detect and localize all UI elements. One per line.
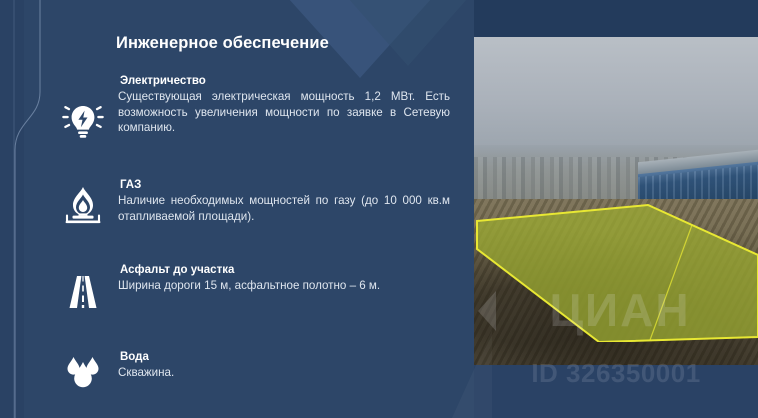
feature-asphalt-text: Асфальт до участка Ширина дороги 15 м, а… xyxy=(118,263,450,294)
feature-asphalt-body: Ширина дороги 15 м, асфальтное полотно –… xyxy=(118,278,450,294)
feature-electricity-body: Существующая электрическая мощность 1,2 … xyxy=(118,89,450,136)
water-drops-icon xyxy=(60,352,106,398)
left-edge-strip xyxy=(0,0,24,418)
watermark-listing-id: ID 326350001 xyxy=(474,358,758,388)
feature-electricity-text: Электричество Существующая электрическая… xyxy=(118,74,450,136)
road-icon xyxy=(60,269,106,315)
presentation-slide: Инженерное обеспечение xyxy=(0,0,758,418)
feature-gas-body: Наличие необходимых мощностей по газу (д… xyxy=(118,193,450,224)
photo-top-band xyxy=(474,0,758,37)
feature-water-title: Вода xyxy=(120,350,450,364)
feature-asphalt-title: Асфальт до участка xyxy=(120,263,450,277)
feature-gas-text: ГАЗ Наличие необходимых мощностей по газ… xyxy=(118,178,450,224)
watermark-brand: ЦИАН xyxy=(482,287,758,333)
lightbulb-electric-icon xyxy=(60,98,106,144)
feature-water-body: Скважина. xyxy=(118,365,450,381)
feature-water-text: Вода Скважина. xyxy=(118,350,450,381)
gas-burner-icon xyxy=(60,184,106,230)
left-content-panel: Инженерное обеспечение xyxy=(0,0,474,418)
photo-sky xyxy=(474,37,758,157)
page-title: Инженерное обеспечение xyxy=(116,34,329,53)
aerial-land-plot-photo: ЦИАН xyxy=(474,37,758,365)
feature-gas-title: ГАЗ xyxy=(120,178,450,192)
feature-electricity-title: Электричество xyxy=(120,74,450,88)
decorative-triangle-secondary xyxy=(348,0,468,66)
